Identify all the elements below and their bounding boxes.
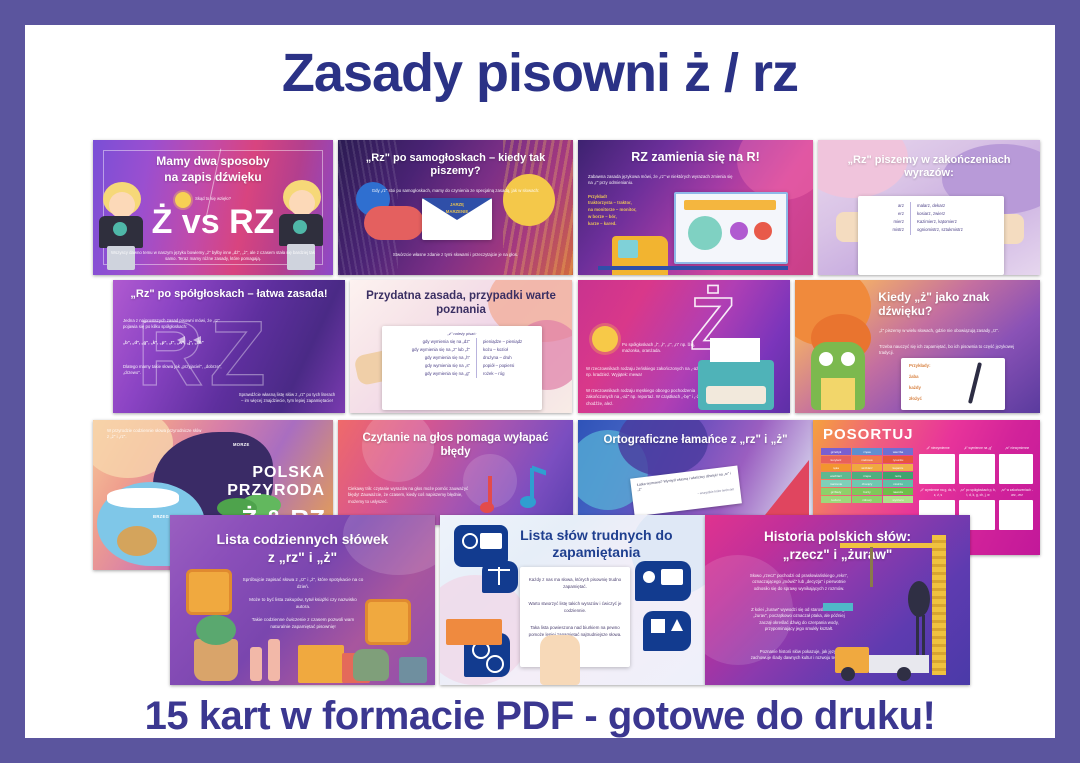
card-9-title-1: POLSKA: [252, 464, 325, 482]
table-header: „ż" należy pisać:: [386, 330, 538, 338]
card-13-title-2: z „rz" i „ż": [186, 549, 419, 566]
table-cell-ending: mierz: [862, 218, 910, 226]
table-cell-ending: erz: [862, 210, 910, 218]
card-4[interactable]: „Rz" piszemy w zakończeniach wyrazów: ar…: [818, 140, 1040, 275]
table-cell-rule: gdy wymienia się na „g": [386, 370, 476, 378]
grid-word: mistrzu: [883, 480, 913, 487]
table-cell-words: kosiarz, zwierz: [917, 210, 1000, 218]
table-cell-example: popiół – popiersi: [483, 362, 538, 370]
table-cell-example: kożu – kozioł: [483, 346, 538, 354]
card-1-big-text: Ż vs RZ: [93, 202, 333, 242]
grid-word: grzebyk: [821, 448, 851, 455]
card-10-body: Ciekawy trik: czytanie wyrazów na głos m…: [348, 486, 478, 505]
card-3-body: Zabawna zasada językowa mówi, że „rz" w …: [588, 174, 738, 187]
card-15[interactable]: Historia polskich słów: „rzecz" i „żuraw…: [705, 515, 970, 685]
table-cell-words: Kazimierz, kątomierz: [917, 218, 1000, 226]
category-label-2: „ż" wymienne na „g": [959, 446, 997, 451]
card-5-title: „Rz" po spółgłoskach – łatwa zasada!: [127, 288, 331, 301]
card-3-art: RZ zamienia się na R! Zabawna zasada jęz…: [578, 140, 813, 275]
label-morze: MORZE: [233, 442, 250, 447]
card-7-body: Po spółgłoskach „l", „ł", „r", „n" np. l…: [622, 342, 714, 355]
grid-word: wyrzucu: [883, 496, 913, 503]
page-title: Zasady pisowni ż / rz: [25, 43, 1055, 103]
card-2-title: „Rz" po samogłoskach – kiedy tak piszemy…: [352, 152, 559, 178]
card-6-table: „ż" należy pisać: gdy wymienia się na „d…: [386, 330, 538, 378]
category-label-5: „rz" po spółgłoskach p, b, t, d, k, g, c…: [959, 488, 997, 498]
plant-pot-illustration: [194, 639, 238, 681]
frog-illustration: [811, 342, 865, 410]
card-3[interactable]: RZ zamienia się na R! Zabawna zasada jęz…: [578, 140, 813, 275]
card-1-art: Mamy dwa sposoby na zapis dźwięku Skąd t…: [93, 140, 333, 275]
card-10[interactable]: Czytanie na głos pomaga wyłapać błędy Ci…: [338, 420, 573, 525]
card-11-title: Ortograficzne łamańce z „rz" i „ż": [592, 434, 799, 448]
typewriter-illustration: [698, 360, 774, 410]
card-8-body: „ż" piszemy w wielu słowach, gdzie nie o…: [879, 328, 1029, 334]
grid-word: ręka: [821, 464, 851, 471]
grid-word: chorąży: [852, 480, 882, 487]
grid-word: rzęsa: [852, 448, 882, 455]
card-10-art: Czytanie na głos pomaga wyłapać błędy Ci…: [338, 420, 573, 525]
table-cell-example: pieniądze – pieniądz: [483, 338, 538, 346]
card-1[interactable]: Mamy dwa sposoby na zapis dźwięku Skąd t…: [93, 140, 333, 275]
table-sheet: arz malarz, dekarz erz kosiarz, zwierz m…: [858, 196, 1004, 275]
table-cell-example: rożek – róg: [483, 370, 538, 378]
grid-word: nawoże: [883, 488, 913, 495]
card-15-title-2: „rzecz" i „żuraw": [721, 547, 954, 563]
cards-grid: Mamy dwa sposoby na zapis dźwięku Skąd t…: [25, 115, 1055, 685]
card-11[interactable]: Ortograficzne łamańce z „rz" i „ż" Łatka…: [578, 420, 813, 515]
card-1-title-2: na zapis dźwięku: [107, 170, 318, 184]
card-2-highlight-2: MARZENIE: [422, 209, 492, 215]
drop-box-1[interactable]: [919, 454, 955, 484]
pointing-hand-illustration: [540, 635, 580, 685]
truck-illustration: [835, 633, 931, 677]
table-cell-ending: arz: [862, 202, 910, 210]
card-8-examples-label: Przykłady:: [909, 363, 931, 369]
poster-frame: Zasady pisowni ż / rz: [25, 25, 1055, 738]
book-illustration: [298, 645, 344, 683]
grid-word: wróblarz: [852, 464, 882, 471]
card-4-table: arz malarz, dekarz erz kosiarz, zwierz m…: [862, 202, 1000, 235]
card-8-example-2: każdy: [909, 385, 921, 391]
table-row: mierz Kazimierz, kątomierz: [862, 218, 1000, 226]
lightbulb-icon: [592, 326, 618, 352]
table-row: gdy wymienia się na „dz" pieniądze – pie…: [386, 338, 538, 346]
card-10-title: Czytanie na głos pomaga wyłapać błędy: [352, 432, 559, 459]
monitor-illustration: [674, 192, 788, 264]
candle-illustration-2: [268, 639, 280, 681]
card-11-art: Ortograficzne łamańce z „rz" i „ż" Łatka…: [578, 420, 813, 515]
grid-word: zdrowy: [852, 496, 882, 503]
card-7-art: Ż Po spółgłoskach „l", „ł", „r", „n" np.…: [578, 280, 790, 413]
card-2-highlight-1: JARZĘ: [422, 202, 492, 208]
card-5-art: RZ „Rz" po spółgłoskach – łatwa zasada! …: [113, 280, 345, 413]
scales-bubble-icon: [482, 561, 518, 593]
card-5[interactable]: RZ „Rz" po spółgłoskach – łatwa zasada! …: [113, 280, 345, 413]
card-9-body: W przyrodzie codziennie słowa przyrodnic…: [107, 428, 203, 441]
card-6-art: Przydatna zasada, przypadki warte poznan…: [350, 280, 572, 413]
music-note-blue-icon: [530, 468, 534, 500]
card-7-body-2: W rzeczownikach rodzaju żeńskiego zakońc…: [586, 366, 714, 379]
red-triangle: [765, 460, 809, 515]
table-row: erz kosiarz, zwierz: [862, 210, 1000, 218]
card-2[interactable]: „Rz" po samogłoskach – kiedy tak piszemy…: [338, 140, 573, 275]
grid-word: wachlarz: [821, 472, 851, 479]
card-14-body-2: Warto stworzyć listę takich wyrazów i ćw…: [528, 601, 622, 614]
table-row: gdy wymienia się na „z" lub „ź" kożu – k…: [386, 346, 538, 354]
table-cell-rule: gdy wymienia się na „h": [386, 354, 476, 362]
grid-word: wierzba: [883, 448, 913, 455]
grid-word: grzbiety: [821, 488, 851, 495]
grid-word: rysunku: [883, 456, 913, 463]
grid-word: korytarz: [821, 456, 851, 463]
card-3-title: RZ zamienia się na R!: [592, 150, 799, 165]
table-cell-rule: gdy wymienia się na „dz": [386, 338, 476, 346]
drop-box-2[interactable]: [959, 454, 995, 484]
word-grid: grzebyk rzęsa wierzba korytarz niebiosa …: [821, 448, 913, 503]
grid-word: burzy: [852, 488, 882, 495]
person-arm: [364, 206, 424, 240]
card-13-body-2: Może to być lista zakupów, tytuł książki…: [242, 597, 364, 611]
card-5-body: Jedna z najprostszych zasad pisowni mówi…: [123, 318, 233, 331]
card-5-note: Sprawdźcie własną listę słów z „rz" po t…: [237, 392, 337, 405]
grid-word: kożuru: [821, 496, 851, 503]
pen-icon: [968, 362, 982, 404]
card-2-body: Gdy „rz" stoi po samogłoskach, mamy do c…: [362, 188, 549, 194]
table-row: gdy wymienia się na „g" rożek – róg: [386, 370, 538, 378]
card-8-art: Kiedy „ż" jako znak dźwięku? „ż" piszemy…: [795, 280, 1040, 413]
card-1-body: Wszyscy dawno temu w naszym języku bowie…: [109, 250, 317, 263]
card-13-title-1: Lista codziennych słówek: [186, 531, 419, 548]
category-label-6: „rz" w zakończeniach -arz, -erz: [999, 488, 1035, 498]
card-4-title: „Rz" piszemy w zakończeniach wyrazów:: [831, 154, 1026, 180]
notepad-illustration: Przykłady: żaba każdy złożyć: [901, 358, 1005, 410]
card-8-example-3: złożyć: [909, 396, 922, 402]
grid-word: marzenie: [821, 480, 851, 487]
grid-word: rzepa: [852, 472, 882, 479]
sign-label: [823, 603, 853, 611]
table-row: arz malarz, dekarz: [862, 202, 1000, 210]
category-label-1: „ż" niewymienne: [919, 446, 957, 451]
drop-box-3[interactable]: [999, 454, 1033, 484]
table-row: mistrz ogniomistrz, sztukmistrz: [862, 226, 1000, 234]
candle-illustration: [250, 647, 262, 681]
grid-word: niebiosa: [852, 456, 882, 463]
label-zolw: ŻÓŁW: [153, 496, 167, 501]
card-14-title: Lista słów trudnych do zapamiętania: [498, 527, 694, 560]
card-15-body: Słowo „rzecz" pochodzi od prasłowiańskie…: [749, 573, 849, 592]
teapot-illustration: [353, 649, 389, 681]
label-brzeg: BRZEG: [153, 514, 169, 519]
music-note-red-icon: [488, 476, 492, 506]
table-cell-words: ogniomistrz, sztukmistrz: [917, 226, 1000, 234]
card-4-art: „Rz" piszemy w zakończeniach wyrazów: ar…: [818, 140, 1040, 275]
bg-blob: [737, 140, 813, 200]
rules-sheet: „ż" należy pisać: gdy wymienia się na „d…: [382, 326, 542, 410]
category-label-3: „rz" niewymienne: [999, 446, 1035, 451]
card-13-body: Spróbujcie zapisać słowa z „rz" i „ż", k…: [242, 577, 364, 591]
card-7[interactable]: Ż Po spółgłoskach „l", „ł", „r", „n" np.…: [578, 280, 790, 413]
card-6-title: Przydatna zasada, przypadki warte poznan…: [363, 290, 558, 317]
orange-hand-illustration: [446, 619, 502, 645]
table-cell-rule: gdy wymienia się na „s": [386, 362, 476, 370]
table-cell-example: drużyna – druh: [483, 354, 538, 362]
card-13[interactable]: Lista codziennych słówek z „rz" i „ż" Sp…: [170, 515, 435, 685]
table-cell-rule: gdy wymienia się na „z" lub „ź": [386, 346, 476, 354]
card-8-body-2: Trzeba nauczyć się ich zapamiętać, bo ic…: [879, 344, 1029, 357]
table-row: gdy wymienia się na „s" popiół – popiers…: [386, 362, 538, 370]
card-14-art: Lista słów trudnych do zapamiętania: [440, 515, 705, 685]
card-14-body-3: Taka lista powieszona nad biurkiem na pe…: [528, 625, 622, 638]
card-2-art: „Rz" po samogłoskach – kiedy tak piszemy…: [338, 140, 573, 275]
table-cell-ending: mistrz: [862, 226, 910, 234]
card-13-art: Lista codziennych słówek z „rz" i „ż" Sp…: [170, 515, 435, 685]
card-1-title: Mamy dwa sposoby: [107, 154, 318, 168]
table-cell-words: malarz, dekarz: [917, 202, 1000, 210]
card-5-body-2: Dlatego mamy takie słowa jak „przyjaciel…: [123, 364, 233, 377]
card-6[interactable]: Przydatna zasada, przypadki warte poznan…: [350, 280, 572, 413]
card-2-footer-body: Stwórzcie własne zdanie z tymi słowami i…: [368, 252, 543, 258]
category-label-4: „ż" wymienne na g, dz, h, z, ź, s: [919, 488, 957, 498]
card-9-title-2: PRZYRODA: [227, 482, 325, 500]
book-bubble-icon: [635, 561, 691, 601]
tower-crane-illustration: [932, 535, 946, 675]
card-15-art: Historia polskich słów: „rzecz" i „żuraw…: [705, 515, 970, 685]
yellow-circle: [503, 174, 555, 226]
turtle-illustration: [117, 526, 157, 556]
card-8-example-1: żaba: [909, 374, 919, 380]
card-14-body: Każdy z nas ma słowa, których pisownię t…: [528, 577, 622, 590]
mug-illustration: [399, 657, 427, 683]
card-14[interactable]: Lista słów trudnych do zapamiętania: [440, 515, 705, 685]
grid-word: kaparze: [883, 464, 913, 471]
ground-bar: [598, 266, 788, 270]
chip-icon-left: [186, 569, 232, 615]
card-8[interactable]: Kiedy „ż" jako znak dźwięku? „ż" piszemy…: [795, 280, 1040, 413]
footer-banner: 15 kart w formacie PDF - gotowe do druku…: [25, 693, 1055, 739]
icons-bubble-right: [643, 611, 691, 651]
card-12-title: POSORTUJ: [823, 426, 914, 443]
card-8-title: Kiedy „ż" jako znak dźwięku?: [878, 290, 1030, 318]
grid-word: nożę: [883, 472, 913, 479]
card-5-consonants: „b", „d", „g", „k", „p", „t", „w", „j", …: [123, 340, 233, 346]
drop-box-6[interactable]: [999, 500, 1033, 530]
chip-icon-right: [365, 599, 411, 645]
table-row: gdy wymienia się na „h" drużyna – druh: [386, 354, 538, 362]
card-7-body-3: W rzeczownikach rodzaju męskiego obcego …: [586, 388, 714, 407]
card-15-body-3: Poznanie historii słów pokazuje, jak jęz…: [749, 649, 849, 662]
card-13-body-3: Takie codzienne ćwiczenie z czasem pozwo…: [242, 617, 364, 631]
